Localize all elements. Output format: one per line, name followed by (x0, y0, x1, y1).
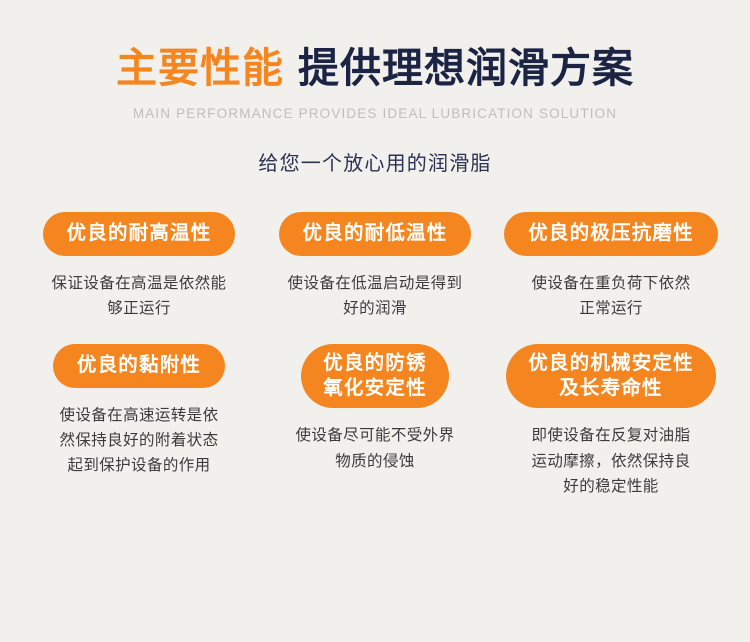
feature-badge-line: 优良的极压抗磨性 (528, 222, 694, 244)
feature-badge-line: 优良的机械安定性 (528, 351, 694, 376)
feature-desc-line: 保证设备在高温是依然能 (32, 271, 247, 296)
page-title-main: 提供理想润滑方案 (298, 45, 634, 91)
feature-badge-high-temp[interactable]: 优良的耐高温性 (43, 212, 236, 256)
feature-desc-mechanical-stability: 即使设备在反复对油脂 运动摩擦，依然保持良 好的稳定性能 (504, 423, 719, 498)
subtitle-chinese: 给您一个放心用的润滑脂 (0, 147, 750, 176)
feature-desc-line: 够正运行 (32, 296, 247, 321)
feature-card-mechanical-stability: 优良的机械安定性 及长寿命性 即使设备在反复对油脂 运动摩擦，依然保持良 好的稳… (493, 344, 729, 499)
feature-desc-high-temp: 保证设备在高温是依然能 够正运行 (32, 271, 247, 321)
feature-desc-extreme-pressure: 使设备在重负荷下依然 正常运行 (504, 271, 719, 321)
subtitle-english: MAIN PERFORMANCE PROVIDES IDEAL LUBRICAT… (0, 106, 750, 121)
feature-row-2: 优良的黏附性 使设备在高速运转是依 然保持良好的附着状态 起到保护设备的作用 优… (0, 344, 750, 499)
feature-desc-line: 然保持良好的附着状态 (32, 428, 247, 453)
feature-desc-line: 使设备在重负荷下依然 (504, 271, 719, 296)
feature-card-antirust: 优良的防锈 氧化安定性 使设备尽可能不受外界 物质的侵蚀 (257, 344, 493, 499)
feature-badge-mechanical-stability[interactable]: 优良的机械安定性 及长寿命性 (506, 344, 716, 409)
feature-desc-line: 使设备在低温启动是得到 (268, 271, 483, 296)
feature-desc-line: 起到保护设备的作用 (32, 453, 247, 478)
feature-badge-extreme-pressure[interactable]: 优良的极压抗磨性 (504, 212, 718, 256)
feature-badge-low-temp[interactable]: 优良的耐低温性 (279, 212, 472, 256)
page-title: 主要性能提供理想润滑方案 (0, 44, 750, 92)
feature-badge-adhesion[interactable]: 优良的黏附性 (53, 344, 225, 388)
feature-desc-line: 好的润滑 (268, 296, 483, 321)
feature-desc-line: 运动摩擦，依然保持良 (504, 449, 719, 474)
feature-badge-line: 氧化安定性 (323, 376, 427, 401)
feature-desc-antirust: 使设备尽可能不受外界 物质的侵蚀 (268, 423, 483, 473)
feature-desc-low-temp: 使设备在低温启动是得到 好的润滑 (268, 271, 483, 321)
feature-badge-line: 及长寿命性 (528, 376, 694, 401)
feature-card-adhesion: 优良的黏附性 使设备在高速运转是依 然保持良好的附着状态 起到保护设备的作用 (21, 344, 257, 499)
feature-badge-line: 优良的耐高温性 (67, 222, 212, 244)
feature-badge-line: 优良的耐低温性 (303, 222, 448, 244)
feature-card-extreme-pressure: 优良的极压抗磨性 使设备在重负荷下依然 正常运行 (493, 212, 729, 321)
promo-page: 主要性能提供理想润滑方案 MAIN PERFORMANCE PROVIDES I… (0, 0, 750, 642)
feature-badge-antirust[interactable]: 优良的防锈 氧化安定性 (301, 344, 449, 409)
feature-desc-line: 物质的侵蚀 (268, 449, 483, 474)
feature-grid: 优良的耐高温性 保证设备在高温是依然能 够正运行 优良的耐低温性 使设备在低温启… (0, 212, 750, 498)
feature-desc-line: 使设备尽可能不受外界 (268, 423, 483, 448)
feature-desc-line: 使设备在高速运转是依 (32, 403, 247, 428)
feature-badge-line: 优良的黏附性 (77, 354, 201, 376)
feature-badge-line: 优良的防锈 (323, 351, 427, 376)
feature-row-1: 优良的耐高温性 保证设备在高温是依然能 够正运行 优良的耐低温性 使设备在低温启… (0, 212, 750, 321)
page-title-accent: 主要性能 (116, 45, 284, 91)
feature-card-low-temp: 优良的耐低温性 使设备在低温启动是得到 好的润滑 (257, 212, 493, 321)
page-header: 主要性能提供理想润滑方案 MAIN PERFORMANCE PROVIDES I… (0, 0, 750, 176)
feature-desc-line: 正常运行 (504, 296, 719, 321)
feature-desc-line: 即使设备在反复对油脂 (504, 423, 719, 448)
feature-card-high-temp: 优良的耐高温性 保证设备在高温是依然能 够正运行 (21, 212, 257, 321)
feature-desc-line: 好的稳定性能 (504, 474, 719, 499)
feature-desc-adhesion: 使设备在高速运转是依 然保持良好的附着状态 起到保护设备的作用 (32, 403, 247, 478)
